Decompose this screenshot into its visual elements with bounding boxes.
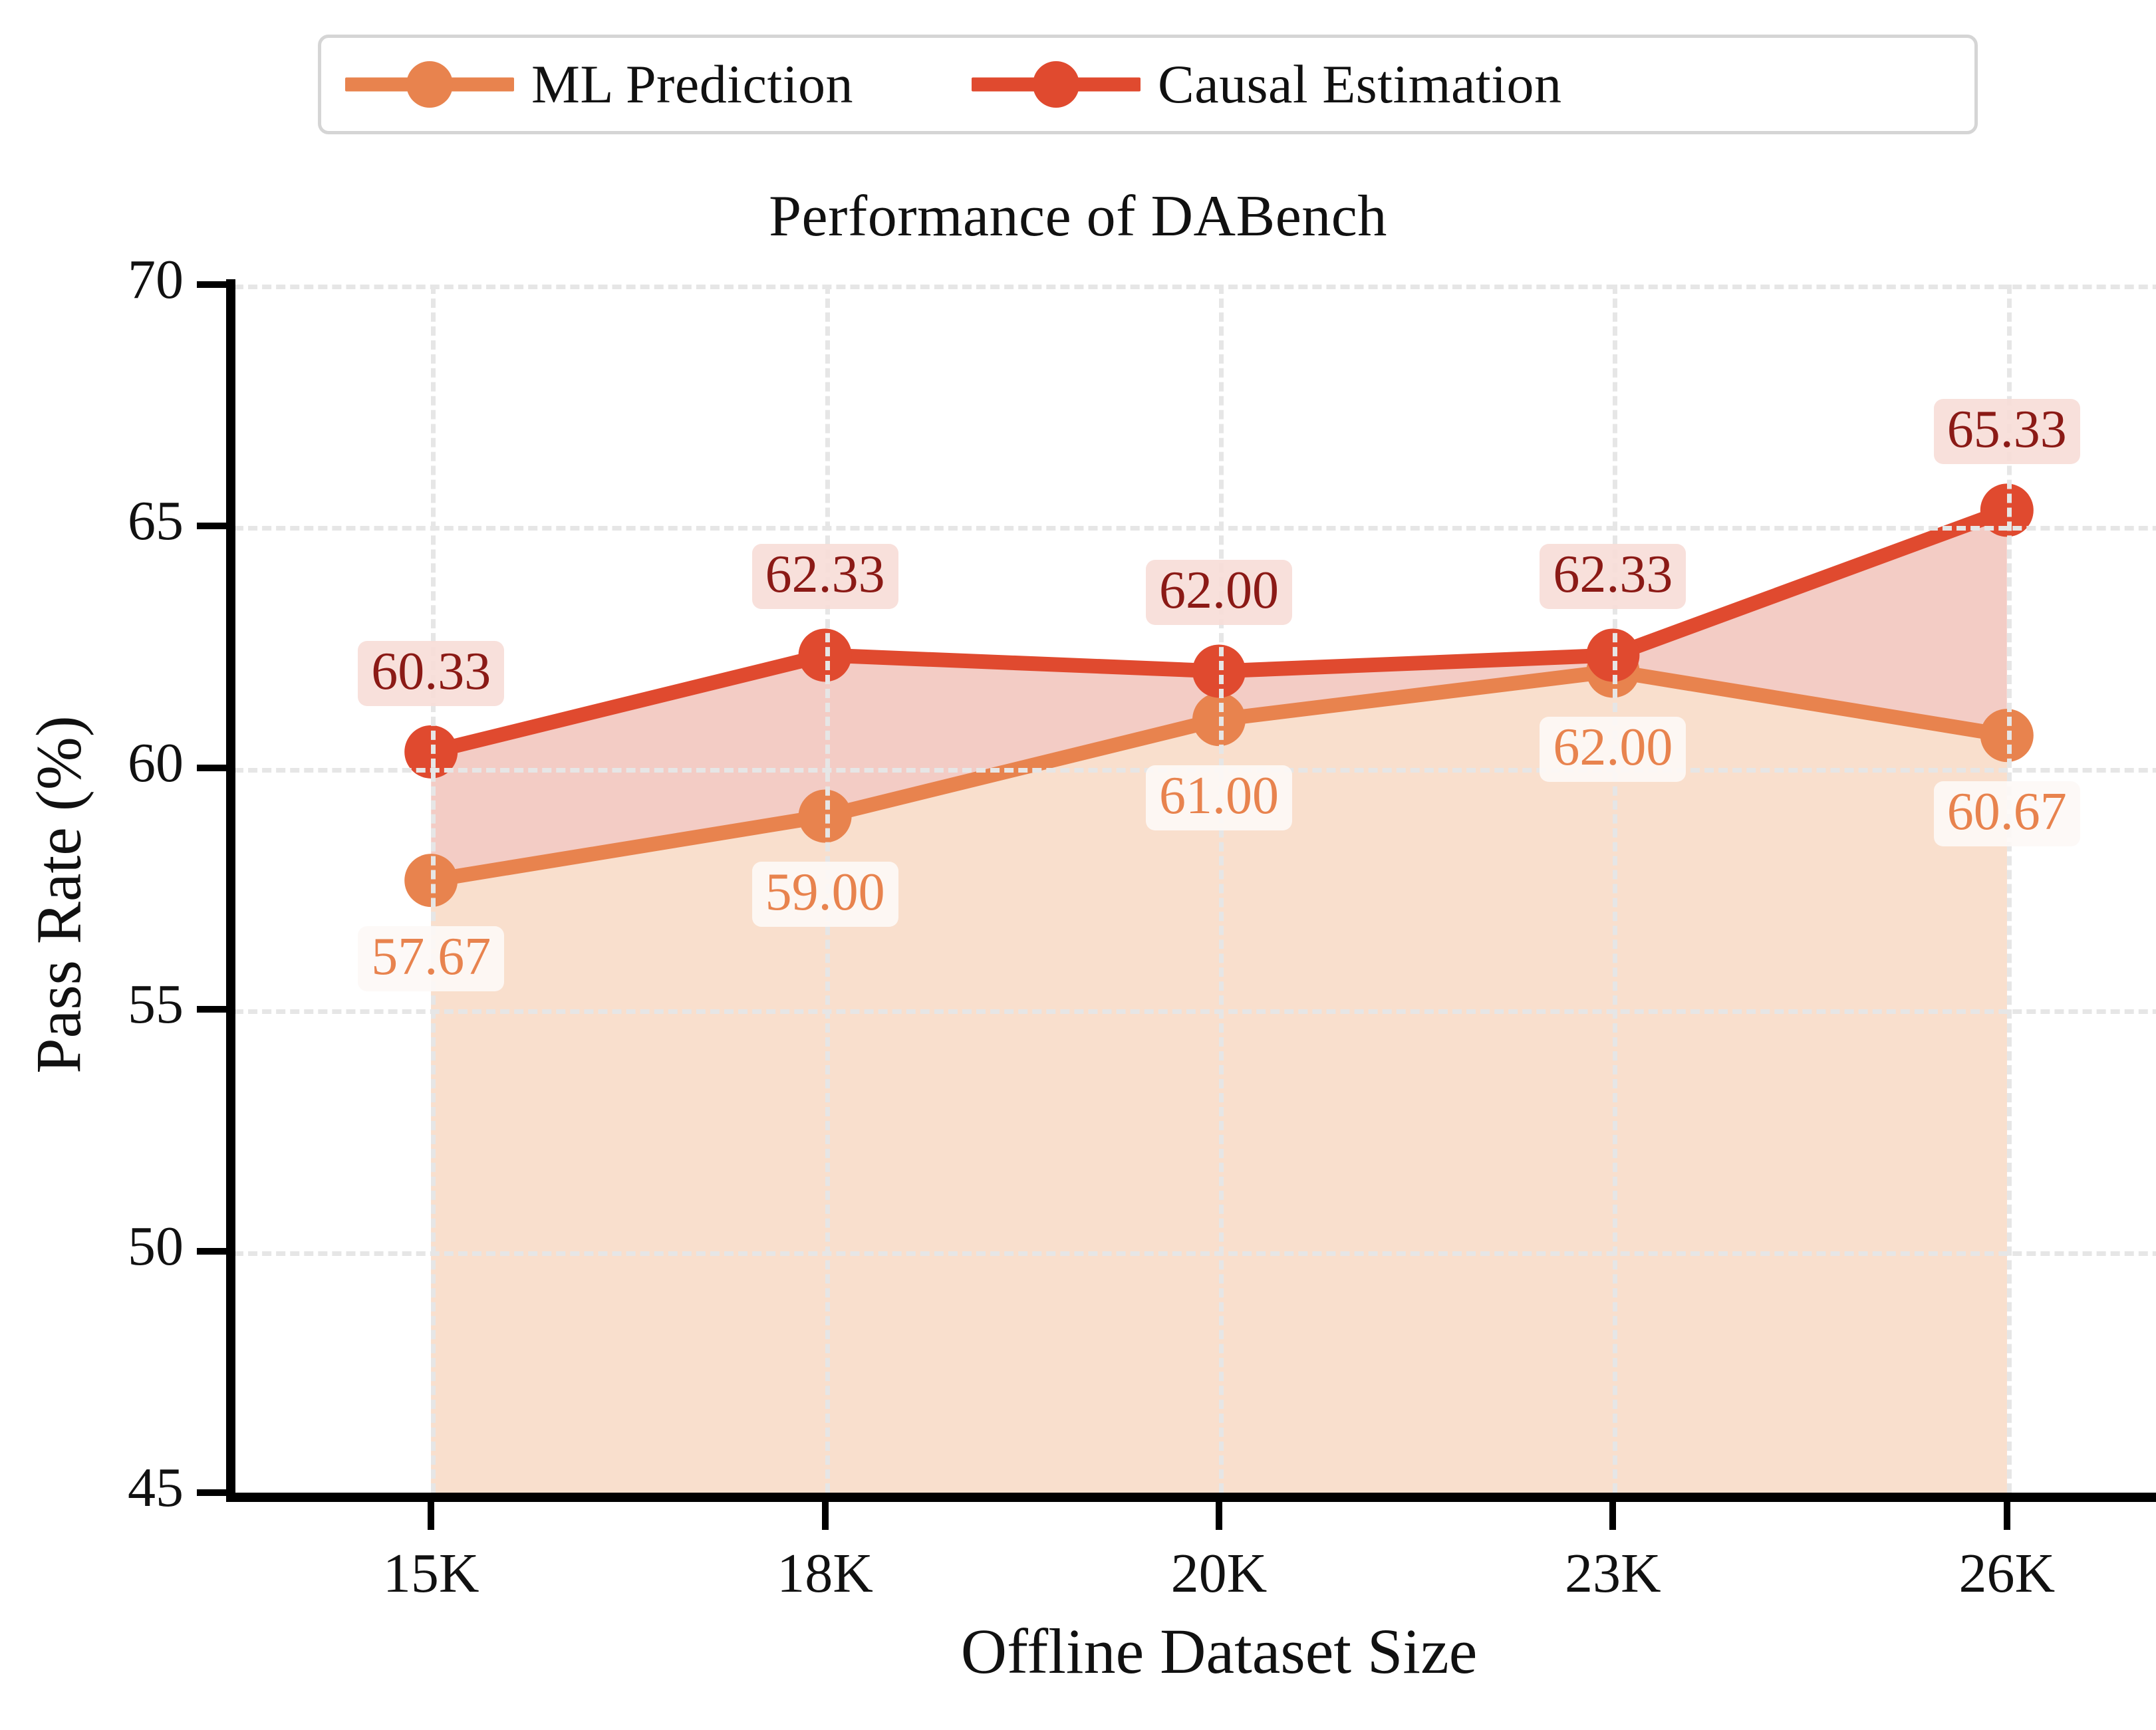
gridline-horizontal xyxy=(234,1251,2156,1256)
y-axis-tick xyxy=(197,281,229,288)
x-axis-tick-label: 15K xyxy=(331,1541,531,1606)
gridline-horizontal xyxy=(234,1009,2156,1014)
x-axis-tick-label: 18K xyxy=(726,1541,925,1606)
series-svg xyxy=(234,285,2156,1493)
y-axis-tick xyxy=(197,523,229,529)
y-axis-tick-label: 45 xyxy=(44,1455,184,1520)
data-label-causal-estimation: 65.33 xyxy=(1934,399,2080,464)
x-axis-tick-label: 23K xyxy=(1513,1541,1712,1606)
gridline-horizontal xyxy=(234,526,2156,531)
data-label-ml-prediction: 61.00 xyxy=(1146,765,1292,830)
plot-area-wrapper: 57.6759.0061.0062.0060.6760.3362.3362.00… xyxy=(0,0,2156,1730)
data-label-causal-estimation: 62.00 xyxy=(1146,560,1292,625)
x-axis-tick-label: 20K xyxy=(1119,1541,1319,1606)
y-axis-label: Pass Rate (%) xyxy=(22,363,96,1427)
data-label-causal-estimation: 60.33 xyxy=(358,641,504,706)
gridline-vertical xyxy=(2007,285,2012,1493)
y-axis-spine xyxy=(226,279,235,1498)
data-label-causal-estimation: 62.33 xyxy=(752,544,898,609)
chart-figure: ML Prediction Causal Estimation Performa… xyxy=(0,0,2156,1730)
data-label-ml-prediction: 62.00 xyxy=(1540,717,1686,782)
x-axis-tick xyxy=(428,1502,434,1530)
data-label-ml-prediction: 57.67 xyxy=(358,926,504,991)
data-label-ml-prediction: 59.00 xyxy=(752,862,898,927)
x-axis-spine xyxy=(226,1493,2156,1502)
plot-area: 57.6759.0061.0062.0060.6760.3362.3362.00… xyxy=(234,285,2156,1493)
y-axis-tick xyxy=(197,1489,229,1496)
y-axis-tick xyxy=(197,765,229,771)
data-label-ml-prediction: 60.67 xyxy=(1934,781,2080,846)
gridline-vertical xyxy=(1613,285,1617,1493)
x-axis-tick xyxy=(822,1502,829,1530)
gridline-vertical xyxy=(1219,285,1224,1493)
gridline-vertical xyxy=(431,285,436,1493)
x-axis-label: Offline Dataset Size xyxy=(234,1614,2156,1688)
x-axis-tick xyxy=(1609,1502,1616,1530)
x-axis-tick-label: 26K xyxy=(1907,1541,2107,1606)
gridline-horizontal xyxy=(234,285,2156,289)
x-axis-tick xyxy=(2004,1502,2010,1530)
x-axis-tick xyxy=(1216,1502,1222,1530)
data-label-causal-estimation: 62.33 xyxy=(1540,544,1686,609)
y-axis-tick-label: 70 xyxy=(44,247,184,312)
y-axis-tick xyxy=(197,1248,229,1255)
y-axis-tick xyxy=(197,1006,229,1013)
